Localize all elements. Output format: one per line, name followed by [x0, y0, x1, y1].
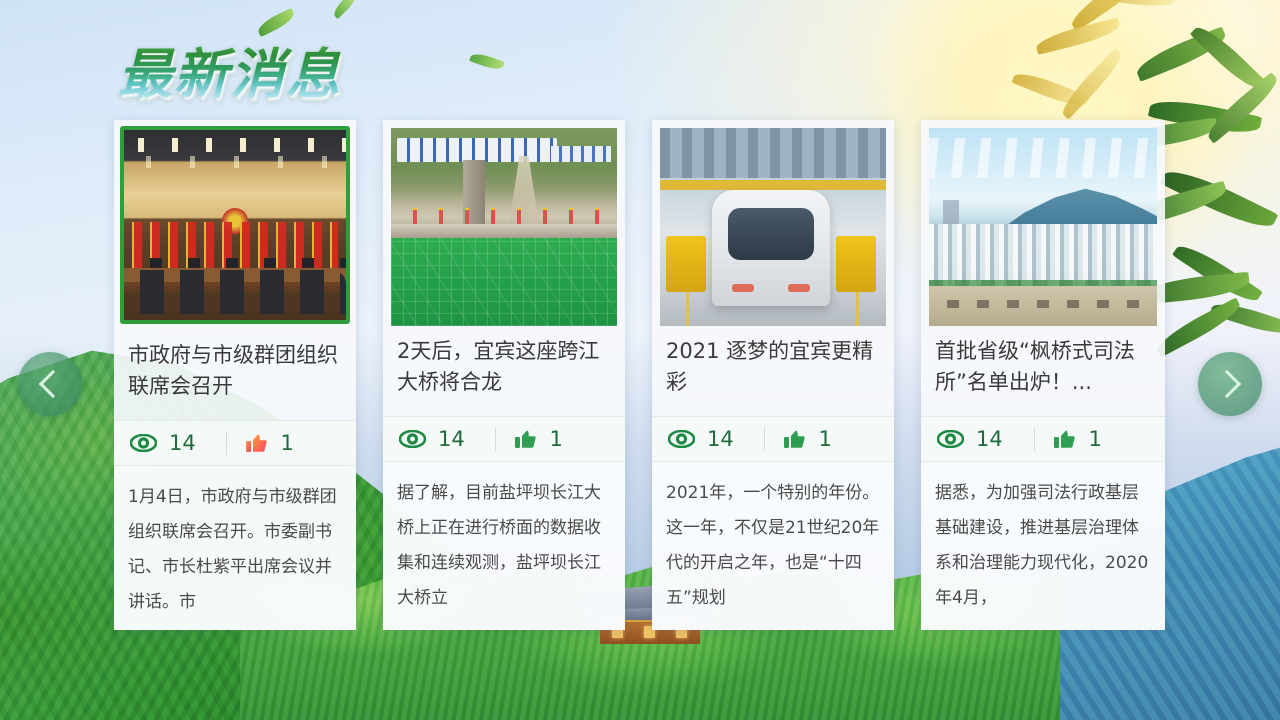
news-card[interactable]: 首批省级“枫桥式司法所”名单出炉！... 14 1 — [921, 120, 1165, 630]
card-headline[interactable]: 2021 逐梦的宜宾更精彩 — [652, 326, 894, 410]
views-stat[interactable]: 14 — [668, 427, 764, 451]
likes-stat[interactable]: 1 — [1034, 427, 1150, 451]
card-body-text: 据了解，目前盐坪坝长江大桥上正在进行桥面的数据收集和连续观测，盐坪坝长江大桥立 — [383, 462, 625, 630]
views-count: 14 — [169, 431, 196, 455]
card-thumbnail-wrap — [114, 120, 356, 330]
thumbs-up-icon — [514, 427, 538, 451]
likes-count: 1 — [281, 431, 294, 455]
eye-icon — [937, 430, 964, 448]
views-count: 14 — [707, 427, 734, 451]
carousel-next-button[interactable] — [1198, 352, 1262, 416]
card-stats: 14 1 — [652, 416, 894, 462]
views-stat[interactable]: 14 — [399, 427, 495, 451]
card-thumbnail-wrap — [921, 120, 1165, 326]
page-stage: 最新消息 市政府与市级群团组织联席会 — [0, 0, 1280, 720]
thumbs-up-icon — [1053, 427, 1077, 451]
card-headline[interactable]: 2天后，宜宾这座跨江大桥将合龙 — [383, 326, 625, 410]
likes-stat[interactable]: 1 — [226, 431, 341, 455]
eye-icon — [399, 430, 426, 448]
news-card[interactable]: 2021 逐梦的宜宾更精彩 14 1 — [652, 120, 894, 630]
thumbs-up-icon — [783, 427, 807, 451]
eye-icon — [130, 434, 157, 452]
chevron-left-icon — [39, 370, 67, 398]
views-stat[interactable]: 14 — [937, 427, 1034, 451]
card-body-text: 2021年，一个特别的年份。这一年，不仅是21世纪20年代的开启之年，也是“十四… — [652, 462, 894, 630]
card-thumbnail-wrap — [383, 120, 625, 326]
chevron-right-icon — [1213, 370, 1241, 398]
likes-stat[interactable]: 1 — [764, 427, 879, 451]
carousel-prev-button[interactable] — [18, 352, 82, 416]
news-card[interactable]: 市政府与市级群团组织联席会召开 14 — [114, 120, 356, 630]
card-body-text: 1月4日，市政府与市级群团组织联席会召开。市委副书记、市长杜紫平出席会议并讲话。… — [114, 466, 356, 630]
thumbs-up-icon — [245, 431, 269, 455]
eye-icon — [668, 430, 695, 448]
news-carousel: 市政府与市级群团组织联席会召开 14 — [0, 120, 1280, 640]
likes-count: 1 — [550, 427, 563, 451]
news-card[interactable]: 2天后，宜宾这座跨江大桥将合龙 14 1 — [383, 120, 625, 630]
card-stats: 14 1 — [383, 416, 625, 462]
city-skyline-photo[interactable] — [929, 128, 1157, 326]
tram-factory-photo[interactable] — [660, 128, 886, 326]
views-stat[interactable]: 14 — [130, 431, 226, 455]
card-headline[interactable]: 首批省级“枫桥式司法所”名单出炉！... — [921, 326, 1165, 410]
card-stats: 14 1 — [114, 420, 356, 466]
likes-stat[interactable]: 1 — [495, 427, 610, 451]
bridge-construction-photo[interactable] — [391, 128, 617, 326]
likes-count: 1 — [819, 427, 832, 451]
page-title: 最新消息 — [118, 30, 342, 109]
views-count: 14 — [438, 427, 465, 451]
card-thumbnail-wrap — [652, 120, 894, 326]
views-count: 14 — [976, 427, 1003, 451]
likes-count: 1 — [1089, 427, 1102, 451]
card-stats: 14 1 — [921, 416, 1165, 462]
card-headline[interactable]: 市政府与市级群团组织联席会召开 — [114, 330, 356, 414]
card-body-text: 据悉，为加强司法行政基层基础建设，推进基层治理体系和治理能力现代化，2020年4… — [921, 462, 1165, 630]
meeting-hall-photo[interactable] — [120, 126, 350, 324]
